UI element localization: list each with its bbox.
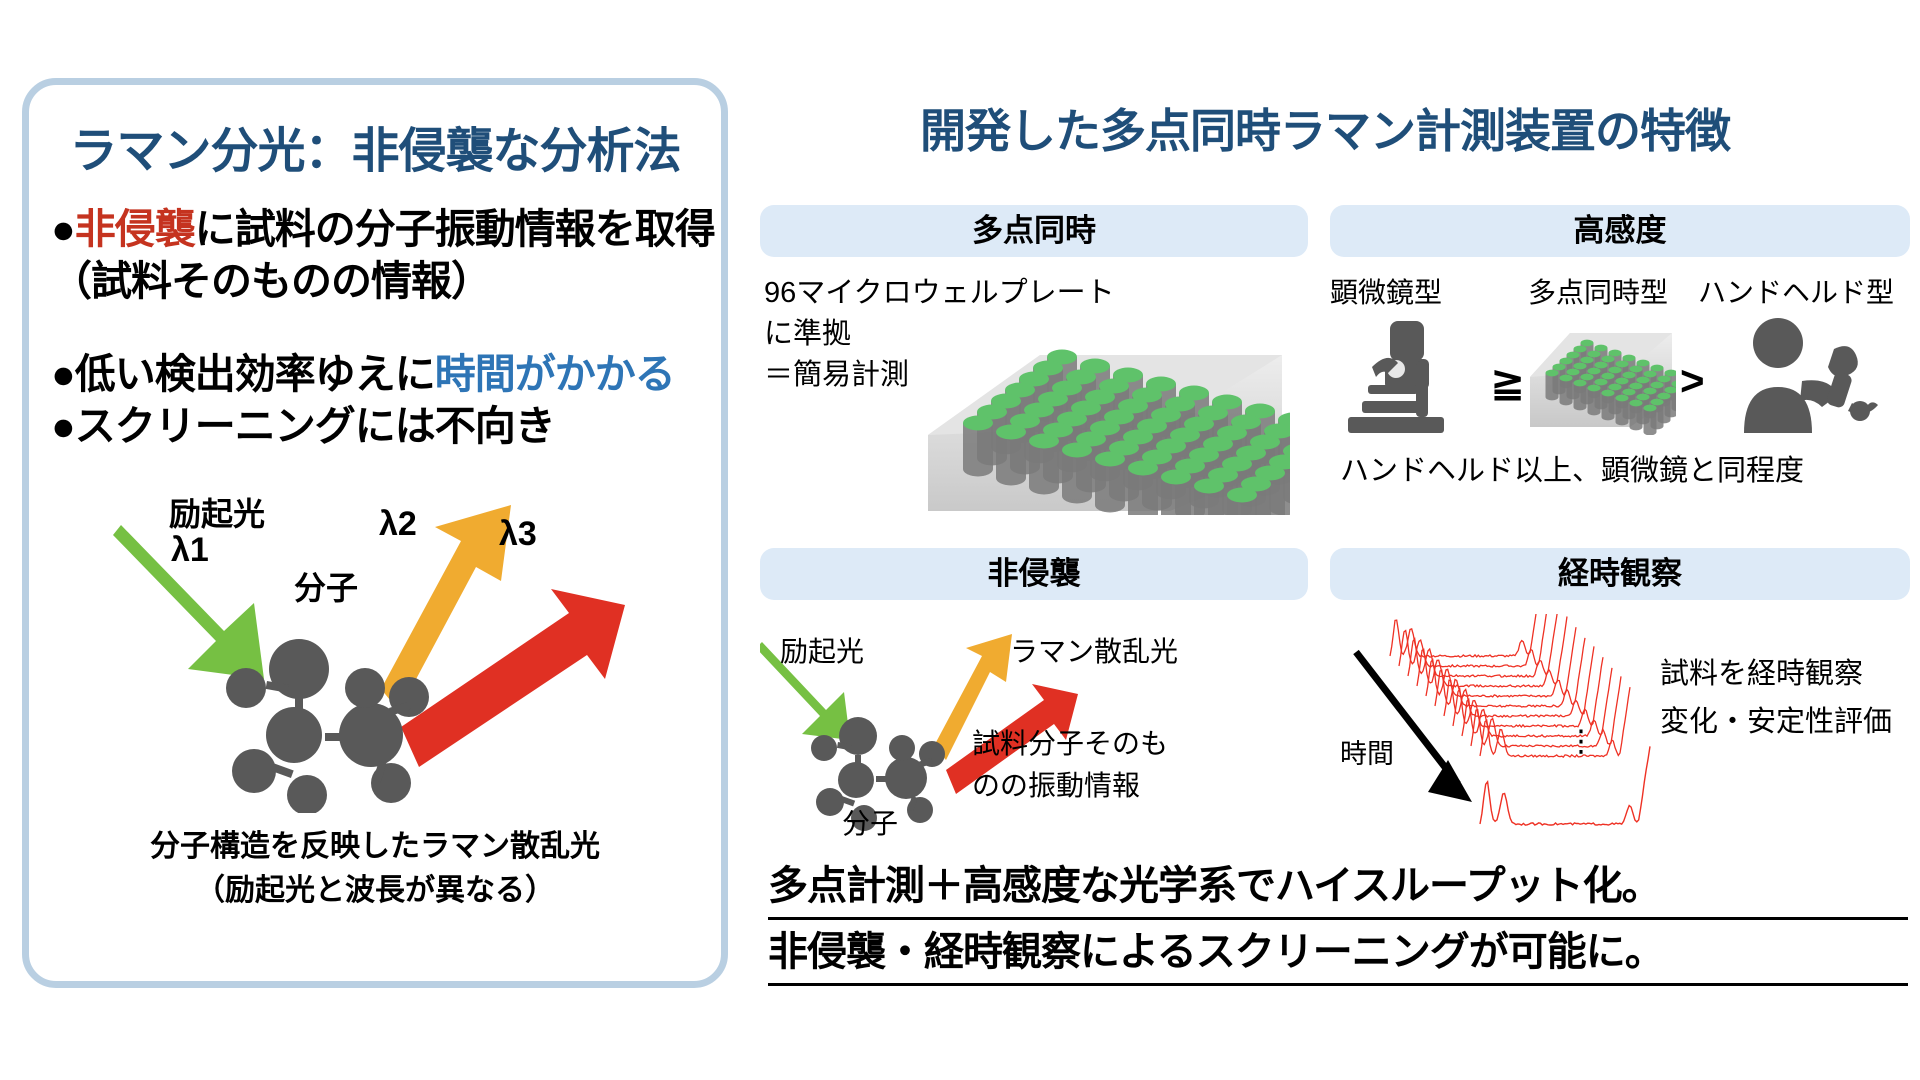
noninvasive-note-line-2: のの振動情報 [972, 764, 1140, 804]
raman-schematic-left: 励起光 λ1 分子 λ2 λ3 [49, 483, 715, 813]
multipoint-text-line-1: 96マイクロウェルプレート [764, 273, 1115, 314]
quadrant-noninvasive: 非侵襲 [760, 548, 1308, 848]
label-excitation: 励起光 [169, 489, 265, 535]
bullet-segment: スクリーニングには不向き [75, 403, 555, 449]
quadrant-multipoint-body: 96マイクロウェルプレート に準拠 ＝簡易計測 [760, 257, 1308, 527]
operator-greater-equal: ≧ [1490, 357, 1525, 406]
left-panel-caption: 分子構造を反映したラマン散乱光 （励起光と波長が異なる） [29, 825, 721, 912]
microwell-plate-small-icon [1526, 315, 1676, 435]
time-arrow [1356, 652, 1472, 802]
ellipsis-marker: ⋮ [1566, 734, 1596, 751]
sensitivity-note: ハンドヘルド以上、顕微鏡と同程度 [1340, 447, 1804, 489]
caption-line-1: 分子構造を反映したラマン散乱光 [29, 825, 721, 869]
bullet-item: （試料そのものの情報） [51, 255, 716, 307]
microwell-plate-svg [920, 315, 1290, 515]
microscope-icon [1338, 315, 1468, 435]
quadrant-noninvasive-heading: 非侵襲 [760, 548, 1308, 600]
quadrant-sensitivity-body: 顕微鏡型 多点同時型 ハンドヘルド型 [1330, 257, 1910, 527]
label-handheld-type: ハンドヘルド型 [1698, 271, 1894, 311]
bullet-segment-emphasis: 非侵襲 [75, 206, 195, 252]
quadrant-timelapse-body: 時間 ⋮ 試料を経時観察 変化・安定性評価 [1330, 600, 1910, 840]
timelapse-note-line-2: 変化・安定性評価 [1660, 698, 1892, 740]
label-excitation-right: 励起光 [780, 630, 864, 670]
right-panel-title: 開発した多点同時ラマン計測装置の特徴 [740, 95, 1910, 161]
label-raman-scattering: ラマン散乱光 [1010, 630, 1178, 670]
handheld-person-icon [1730, 315, 1900, 435]
label-lambda3: λ3 [499, 515, 537, 554]
timelapse-spectra-figure: 時間 ⋮ 試料を経時観察 変化・安定性評価 [1330, 614, 1910, 864]
noninvasive-note-line-1: 試料分子そのも [972, 722, 1168, 762]
quadrant-sensitivity-heading: 高感度 [1330, 205, 1910, 257]
bullet-segment: 低い検出効率ゆえに [75, 351, 435, 397]
operator-greater-than: > [1680, 357, 1705, 405]
bullet-item: ●スクリーニングには不向き [51, 400, 716, 452]
left-panel: ラマン分光：非侵襲な分析法 ●非侵襲に試料の分子振動情報を取得 （試料そのものの… [22, 78, 728, 988]
bullet-marker: ● [51, 403, 75, 449]
bullet-marker: ● [51, 351, 75, 397]
label-multipoint-type: 多点同時型 [1528, 271, 1668, 311]
bullet-segment: に試料の分子振動情報を取得 [195, 206, 715, 252]
slide-root: ラマン分光：非侵襲な分析法 ●非侵襲に試料の分子振動情報を取得 （試料そのものの… [0, 0, 1920, 1080]
label-time: 時間 [1340, 732, 1394, 771]
bullet-item: ●非侵襲に試料の分子振動情報を取得 [51, 203, 716, 255]
bullet-segment: （試料そのものの情報） [51, 258, 491, 304]
label-lambda2: λ2 [379, 505, 417, 544]
raman-schematic-right: 励起光 ラマン散乱光 分子 試料分子そのも のの振動情報 [760, 612, 1308, 842]
quadrant-timelapse: 経時観察 時間 ⋮ 試料を経時観察 変化・安定性評価 [1330, 548, 1910, 848]
bullet-marker: ● [51, 206, 75, 252]
conclusion-line-2: 非侵襲・経時観察によるスクリーニングが可能に。 [768, 928, 1908, 986]
microwell-plate-illustration [920, 315, 1290, 520]
bullet-item: ●低い検出効率ゆえに時間がかかる [51, 348, 716, 400]
caption-line-2: （励起光と波長が異なる） [29, 869, 721, 913]
conclusion-line-1: 多点計測＋高感度な光学系でハイスループット化。 [768, 862, 1908, 920]
quadrant-multipoint: 多点同時 96マイクロウェルプレート に準拠 ＝簡易計測 [760, 205, 1308, 535]
quadrant-multipoint-heading: 多点同時 [760, 205, 1308, 257]
bullet-segment-emphasis: 時間がかかる [435, 351, 675, 397]
label-lambda1: λ1 [171, 531, 209, 570]
left-panel-title: ラマン分光：非侵襲な分析法 [29, 111, 721, 181]
quadrant-timelapse-heading: 経時観察 [1330, 548, 1910, 600]
conclusion-block: 多点計測＋高感度な光学系でハイスループット化。 非侵襲・経時観察によるスクリーニ… [768, 862, 1908, 986]
timelapse-note-line-1: 試料を経時観察 [1660, 650, 1863, 692]
label-molecule-right: 分子 [842, 802, 898, 842]
label-microscope-type: 顕微鏡型 [1330, 271, 1442, 311]
label-molecule: 分子 [294, 563, 358, 609]
sensitivity-labels: 顕微鏡型 多点同時型 ハンドヘルド型 [1330, 271, 1910, 311]
left-panel-bullets: ●非侵襲に試料の分子振動情報を取得 （試料そのものの情報） ●低い検出効率ゆえに… [51, 203, 716, 453]
quadrant-noninvasive-body: 励起光 ラマン散乱光 分子 試料分子そのも のの振動情報 [760, 600, 1308, 840]
spacer [51, 308, 716, 348]
quadrant-sensitivity: 高感度 顕微鏡型 多点同時型 ハンドヘルド型 [1330, 205, 1910, 535]
sensitivity-comparison-row: ≧ > [1330, 315, 1910, 435]
